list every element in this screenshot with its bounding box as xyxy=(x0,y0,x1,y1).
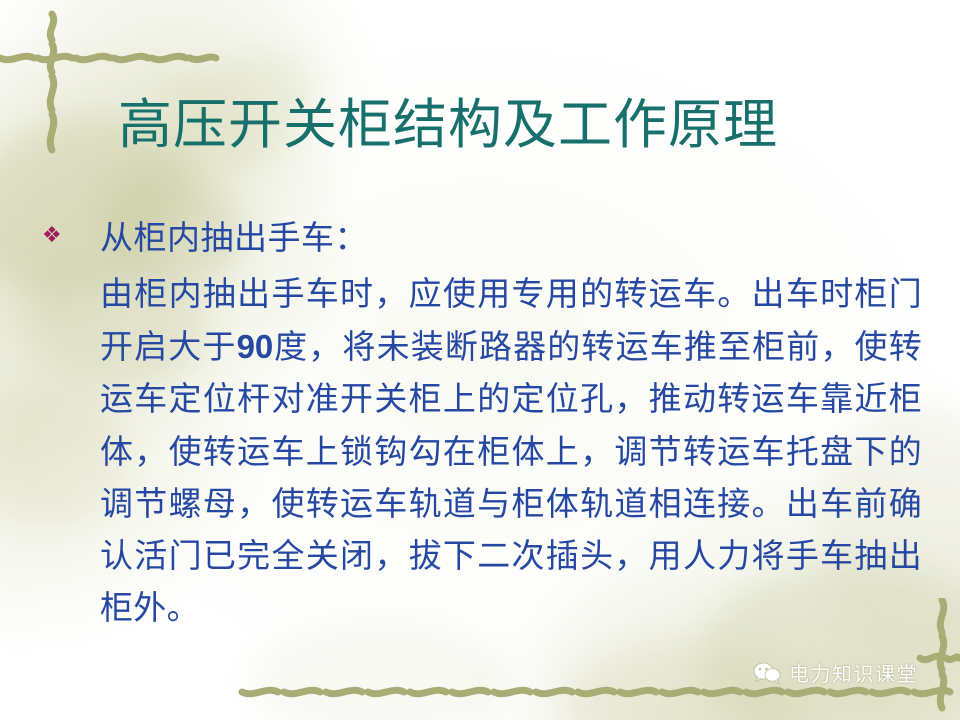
slide-body: ❖ 从柜内抽出手车： 由柜内抽出手车时，应使用专用的转运车。出车时柜门开启大于9… xyxy=(38,214,922,635)
bullet-item-heading: ❖ 从柜内抽出手车： xyxy=(38,214,922,265)
watermark: 电力知识课堂 xyxy=(752,658,918,687)
slide-canvas: 高压开关柜结构及工作原理 ❖ 从柜内抽出手车： 由柜内抽出手车时，应使用专用的转… xyxy=(0,0,960,720)
diamond-bullet-icon: ❖ xyxy=(38,214,100,256)
paragraph-degree-number: 90 xyxy=(237,328,274,365)
watermark-label: 电力知识课堂 xyxy=(789,658,918,687)
bullet-heading-text: 从柜内抽出手车： xyxy=(100,214,922,265)
slide-title: 高压开关柜结构及工作原理 xyxy=(118,94,778,156)
paragraph-part-two: 度，将未装断路器的转运车推至柜前，使转运车定位杆对准开关柜上的定位孔，推动转运车… xyxy=(100,330,922,627)
body-paragraph: 由柜内抽出手车时，应使用专用的转运车。出车时柜门开启大于90度，将未装断路器的转… xyxy=(100,269,922,635)
wechat-icon xyxy=(752,660,782,686)
